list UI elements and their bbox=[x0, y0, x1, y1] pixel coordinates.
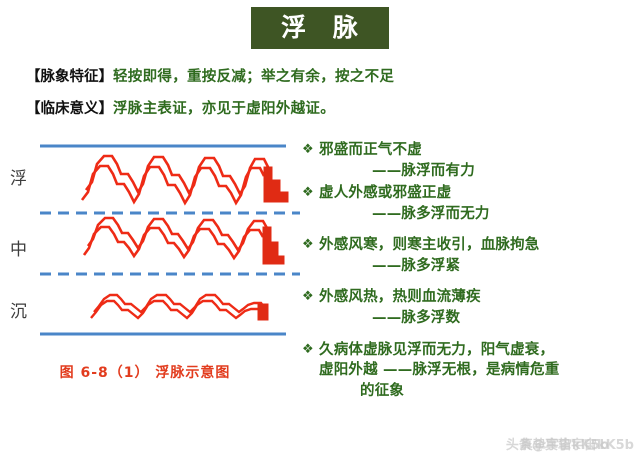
pulse-waveform-svg bbox=[0, 134, 300, 349]
diamond-floral-icon: ❖ bbox=[302, 340, 319, 360]
waveform-chen-tail bbox=[258, 304, 268, 320]
pulse-diagram: 浮 中 沉 图 6-8（1） 浮脉示 bbox=[0, 134, 300, 404]
bullet-5-cont2: 的征象 bbox=[302, 381, 640, 402]
bullet-item-5: ❖ 久病体虚脉见浮而无力，阳气虚衰， 虚阳外越 ——脉浮无根，是病情危重 的征象 bbox=[302, 340, 640, 402]
bullet-4-main: 外感风热，热则血流薄疾 bbox=[319, 287, 640, 308]
list-spacer bbox=[302, 278, 640, 287]
waveform-zhong-tail bbox=[263, 227, 284, 264]
figure-caption: 图 6-8（1） 浮脉示意图 bbox=[0, 362, 290, 382]
bullet-2-sub: ——脉多浮而无力 bbox=[302, 204, 640, 225]
bullet-2-main: 虚人外感或邪盛正虚 bbox=[319, 183, 640, 204]
bullet-1-sub: ——脉浮而有力 bbox=[302, 161, 640, 182]
list-spacer bbox=[302, 331, 640, 340]
bullet-item-2: ❖ 虚人外感或邪盛正虚 ——脉多浮而无力 bbox=[302, 183, 640, 224]
bullet-1-main: 邪盛而正气不虚 bbox=[319, 140, 640, 161]
level-label-chen: 沉 bbox=[10, 297, 27, 322]
bullet-4-sub: ——脉多浮数 bbox=[302, 308, 640, 329]
waveform-chen bbox=[91, 295, 264, 318]
diamond-floral-icon: ❖ bbox=[302, 183, 319, 203]
bullet-5-main: 久病体虚脉见浮而无力，阳气虚衰， bbox=[319, 340, 640, 361]
bullet-3-main: 外感风寒，则寒主收引，血脉拘急 bbox=[319, 235, 640, 256]
bullet-5-cont: 虚阳外越 ——脉浮无根，是病情危重 bbox=[302, 360, 640, 381]
waveform-zhong bbox=[84, 218, 267, 258]
waveform-fu bbox=[82, 156, 268, 203]
list-spacer bbox=[302, 226, 640, 235]
diamond-floral-icon: ❖ bbox=[302, 235, 319, 255]
pulse-characteristics-text: 轻按即得，重按反减；举之有余，按之不足 bbox=[113, 69, 394, 85]
pulse-characteristics-bracket: 【脉象特征】 bbox=[26, 69, 113, 85]
page-title: 浮 脉 bbox=[251, 7, 389, 49]
clinical-significance-line: 【临床意义】浮脉主表证，亦见于虚阳外越证。 bbox=[26, 102, 335, 117]
watermark: 头条@真挚宇宙kK5b 真挚宇宙kK5b bbox=[506, 434, 634, 453]
level-label-fu: 浮 bbox=[10, 164, 27, 189]
page-title-container: 浮 脉 bbox=[0, 7, 640, 49]
bullet-item-3: ❖ 外感风寒，则寒主收引，血脉拘急 ——脉多浮紧 bbox=[302, 235, 640, 276]
level-label-zhong: 中 bbox=[10, 235, 27, 260]
clinical-bullet-list: ❖ 邪盛而正气不虚 ——脉浮而有力 ❖ 虚人外感或邪盛正虚 ——脉多浮而无力 ❖… bbox=[302, 140, 640, 403]
bullet-item-4: ❖ 外感风热，热则血流薄疾 ——脉多浮数 bbox=[302, 287, 640, 328]
diamond-floral-icon: ❖ bbox=[302, 140, 319, 160]
diamond-floral-icon: ❖ bbox=[302, 287, 319, 307]
waveform-fu-tail bbox=[264, 167, 288, 202]
clinical-significance-text: 浮脉主表证，亦见于虚阳外越证。 bbox=[113, 101, 335, 117]
bullet-3-sub: ——脉多浮紧 bbox=[302, 256, 640, 277]
clinical-significance-bracket: 【临床意义】 bbox=[26, 101, 113, 117]
bullet-item-1: ❖ 邪盛而正气不虚 ——脉浮而有力 bbox=[302, 140, 640, 181]
watermark-text-overlay: 真挚宇宙kK5b bbox=[520, 434, 609, 453]
pulse-characteristics-line: 【脉象特征】轻按即得，重按反减；举之有余，按之不足 bbox=[26, 70, 394, 85]
